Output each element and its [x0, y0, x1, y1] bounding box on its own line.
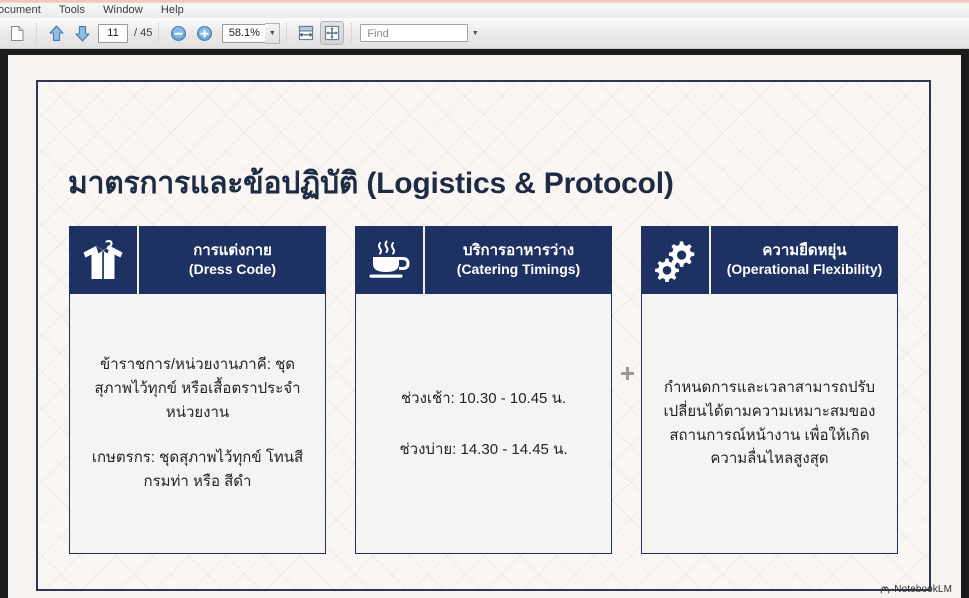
page-total-label: / 45 — [134, 27, 152, 39]
pdf-reader-window: ocument Tools Window Help 11 / 45 — [0, 0, 969, 598]
zoom-level-dropdown-button[interactable]: ▼ — [265, 23, 280, 44]
card-title-en: (Catering Timings) — [457, 261, 580, 278]
find-dropdown-button[interactable]: ▼ — [468, 24, 482, 42]
card-title-th: ความยืดหยุ่น — [762, 242, 846, 260]
dress-shirt-icon — [82, 238, 124, 282]
chevron-down-icon: ▼ — [269, 30, 276, 37]
arrow-up-icon — [47, 24, 66, 43]
coffee-cup-icon — [367, 239, 411, 281]
menu-bar: ocument Tools Window Help — [0, 3, 969, 18]
zoom-out-button[interactable] — [166, 21, 190, 45]
notebooklm-watermark: NotebookLM — [880, 584, 952, 595]
card-header: บริการอาหารว่าง (Catering Timings) — [355, 226, 612, 294]
zoom-in-icon — [196, 25, 213, 42]
card-title-en: (Dress Code) — [189, 261, 276, 278]
new-document-button[interactable] — [5, 21, 29, 45]
toolbar: 11 / 45 58.1% ▼ — [0, 18, 969, 49]
card-operational-flexibility: ความยืดหยุ่น (Operational Flexibility) ก… — [641, 226, 898, 554]
card-body: ข้าราชการ/หน่วยงานภาคี: ชุดสุภาพไว้ทุกข์… — [69, 294, 326, 554]
zoom-level-input[interactable]: 58.1% — [222, 24, 265, 43]
zoom-in-button[interactable] — [192, 21, 216, 45]
menu-item-document[interactable]: ocument — [0, 3, 50, 18]
card-title: บริการอาหารว่าง (Catering Timings) — [425, 226, 612, 294]
card-body: กำหนดการและเวลาสามารถปรับเปลี่ยนได้ตามคว… — [641, 294, 898, 554]
fit-width-button[interactable] — [294, 21, 318, 45]
fit-width-icon — [297, 24, 315, 42]
slide-frame: มาตรการและข้อปฏิบัติ (Logistics & Protoc… — [36, 80, 931, 591]
card-header: การแต่งกาย (Dress Code) — [69, 226, 326, 294]
notebooklm-watermark-label: NotebookLM — [894, 584, 952, 595]
chevron-down-icon: ▼ — [472, 30, 479, 37]
toolbar-separator — [158, 23, 159, 43]
card-paragraph: กำหนดการและเวลาสามารถปรับเปลี่ยนได้ตามคว… — [654, 376, 885, 471]
menu-item-help[interactable]: Help — [152, 3, 193, 18]
card-paragraph: ช่วงบ่าย: 14.30 - 14.45 น. — [400, 439, 568, 460]
card-body: ช่วงเช้า: 10.30 - 10.45 น. ช่วงบ่าย: 14.… — [355, 294, 612, 554]
card-title: การแต่งกาย (Dress Code) — [139, 226, 326, 294]
arrow-down-icon — [73, 24, 92, 43]
cards-row: การแต่งกาย (Dress Code) ข้าราชการ/หน่วยง… — [69, 226, 899, 554]
card-title: ความยืดหยุ่น (Operational Flexibility) — [711, 226, 898, 294]
toolbar-separator — [286, 23, 287, 43]
card-paragraph: เกษตรกร: ชุดสุภาพไว้ทุกข์ โทนสีกรมท่า หร… — [82, 446, 313, 493]
card-catering-timings: บริการอาหารว่าง (Catering Timings) ช่วงเ… — [355, 226, 612, 554]
gears-icon-container — [641, 226, 711, 294]
next-page-button[interactable] — [70, 21, 94, 45]
toolbar-separator — [351, 23, 352, 43]
card-title-en: (Operational Flexibility) — [727, 261, 883, 278]
card-dress-code: การแต่งกาย (Dress Code) ข้าราชการ/หน่วยง… — [69, 226, 326, 554]
coffee-cup-icon-container — [355, 226, 425, 294]
card-title-th: การแต่งกาย — [193, 242, 272, 260]
page-number-input[interactable]: 11 — [98, 24, 128, 43]
zoom-out-icon — [170, 25, 187, 42]
gears-icon — [653, 238, 697, 282]
fit-page-button[interactable] — [320, 21, 344, 45]
fit-page-icon — [323, 24, 341, 42]
dress-shirt-icon-container — [69, 226, 139, 294]
page-title: มาตรการและข้อปฏิบัติ (Logistics & Protoc… — [68, 160, 674, 207]
document-viewport[interactable]: มาตรการและข้อปฏิบัติ (Logistics & Protoc… — [0, 49, 969, 598]
card-paragraph: ช่วงเช้า: 10.30 - 10.45 น. — [401, 388, 566, 409]
menu-item-window[interactable]: Window — [94, 3, 152, 18]
card-paragraph: ข้าราชการ/หน่วยงานภาคี: ชุดสุภาพไว้ทุกข์… — [82, 353, 313, 424]
notebooklm-icon — [880, 585, 890, 595]
previous-page-button[interactable] — [44, 21, 68, 45]
card-header: ความยืดหยุ่น (Operational Flexibility) — [641, 226, 898, 294]
pdf-page: มาตรการและข้อปฏิบัติ (Logistics & Protoc… — [8, 55, 961, 598]
toolbar-separator — [36, 23, 37, 43]
menu-item-tools[interactable]: Tools — [50, 3, 94, 18]
document-icon — [10, 25, 25, 42]
find-input[interactable]: Find — [360, 24, 468, 42]
card-title-th: บริการอาหารว่าง — [463, 242, 574, 260]
